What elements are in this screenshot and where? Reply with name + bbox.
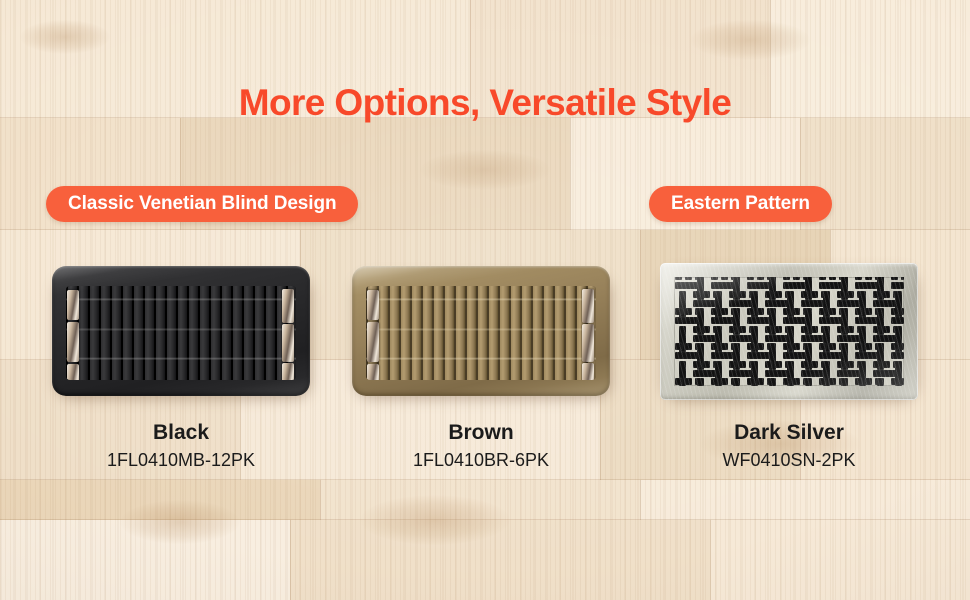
product-name: Black	[52, 420, 310, 446]
weave-bar	[901, 378, 904, 385]
weave-bar	[891, 317, 904, 324]
weave-bar	[769, 378, 776, 386]
damper-clip-left	[66, 286, 81, 380]
weave-bar	[783, 378, 790, 385]
weave-bar	[675, 378, 682, 385]
weave-bar	[693, 291, 700, 298]
weave-bar	[819, 378, 826, 385]
weave-bar	[901, 343, 904, 350]
damper-clip-right	[581, 286, 596, 380]
weave-bar	[811, 326, 818, 333]
weave-bar	[873, 361, 880, 368]
weave-bar	[693, 326, 700, 333]
weave-bar	[837, 326, 844, 333]
weave-bar	[739, 361, 746, 368]
weave-bar	[901, 308, 904, 315]
weave-bar	[891, 308, 898, 315]
weave-bar	[829, 308, 836, 315]
weave-bar	[793, 308, 800, 315]
weave-bar	[865, 343, 872, 350]
badge-eastern-pattern: Eastern Pattern	[649, 186, 832, 222]
weave-bar	[729, 361, 736, 368]
weave-bar	[855, 378, 862, 385]
weave-bar	[883, 291, 890, 298]
weave-bar	[855, 343, 862, 350]
weave-bar	[855, 308, 862, 315]
weave-bar	[675, 343, 682, 350]
weave-bar	[891, 352, 904, 359]
product-image-brown	[352, 266, 610, 396]
weave-bar	[891, 277, 898, 280]
weave-bar	[675, 277, 682, 280]
product-name: Brown	[352, 420, 610, 446]
weave-bar	[819, 308, 826, 315]
weave-bar	[865, 308, 872, 315]
weave-bar	[747, 378, 754, 385]
product-image-black	[52, 266, 310, 396]
weave-bar	[829, 343, 836, 350]
weave-bar	[891, 378, 898, 385]
weave-bar	[721, 277, 728, 280]
basketweave-pattern	[674, 277, 904, 386]
weave-bar	[765, 361, 772, 368]
weave-bar	[721, 308, 728, 315]
weave-bar	[901, 277, 904, 280]
product-name: Dark Silver	[660, 420, 918, 446]
weave-bar	[819, 343, 826, 350]
weave-bar	[711, 277, 718, 280]
weave-bar	[675, 308, 682, 315]
weave-bar	[757, 378, 764, 385]
weave-bar	[783, 308, 790, 315]
weave-bar	[829, 378, 836, 385]
product-sku: 1FL0410BR-6PK	[352, 448, 610, 472]
badge-label: Eastern Pattern	[671, 193, 810, 215]
weave-bar	[847, 291, 854, 298]
weave-bar	[811, 291, 818, 298]
weave-bar	[711, 308, 718, 315]
page-title: More Options, Versatile Style	[0, 82, 970, 123]
product-image-dark-silver	[660, 263, 918, 400]
weave-bar	[775, 291, 782, 298]
weave-bar	[801, 361, 808, 368]
weave-bar	[805, 378, 812, 386]
weave-bar	[877, 378, 884, 386]
weave-bar	[775, 326, 782, 333]
weave-bar	[685, 308, 692, 315]
weave-bar	[891, 343, 898, 350]
weave-bar	[685, 378, 692, 385]
weave-bar	[711, 378, 718, 385]
weave-bar	[685, 277, 692, 280]
weave-bar	[775, 361, 782, 368]
weave-bar	[721, 343, 728, 350]
weave-bar	[873, 326, 880, 333]
weave-bar	[697, 378, 704, 386]
weave-bar	[703, 361, 710, 368]
weave-bar	[883, 326, 890, 333]
weave-bar	[703, 326, 710, 333]
weave-bar	[841, 378, 848, 386]
weave-bar	[783, 343, 790, 350]
weave-bar	[721, 378, 728, 385]
weave-bar	[883, 361, 890, 368]
weave-bar	[837, 361, 844, 368]
weave-bar	[847, 361, 854, 368]
weave-bar	[891, 282, 904, 289]
weave-bar	[801, 326, 808, 333]
weave-bar	[757, 277, 764, 280]
weave-bar	[811, 361, 818, 368]
weave-bar	[739, 291, 746, 298]
weave-bar	[873, 291, 880, 298]
product-caption-black: Black 1FL0410MB-12PK	[52, 420, 310, 473]
weave-bar	[793, 277, 800, 280]
weave-bar	[711, 343, 718, 350]
weave-bar	[729, 326, 736, 333]
weave-bar	[865, 378, 872, 385]
weave-bar	[765, 326, 772, 333]
badge-label: Classic Venetian Blind Design	[68, 193, 336, 215]
weave-bar	[693, 361, 700, 368]
weave-bar	[837, 291, 844, 298]
weave-bar	[819, 277, 826, 280]
damper-clip-left	[366, 286, 381, 380]
weave-bar	[733, 378, 740, 386]
damper-clip-right	[281, 286, 296, 380]
weave-bar	[829, 277, 836, 280]
weave-bar	[783, 277, 790, 280]
product-caption-dark-silver: Dark Silver WF0410SN-2PK	[660, 420, 918, 473]
weave-bar	[793, 378, 800, 385]
weave-bar	[855, 277, 862, 280]
weave-bar	[757, 308, 764, 315]
weave-bar	[757, 343, 764, 350]
weave-bar	[801, 291, 808, 298]
weave-bar	[729, 291, 736, 298]
weave-bar	[703, 291, 710, 298]
marketing-banner: More Options, Versatile Style Classic Ve…	[0, 0, 970, 600]
weave-bar	[739, 326, 746, 333]
weave-bar	[865, 277, 872, 280]
weave-bar	[747, 277, 754, 280]
weave-bar	[793, 343, 800, 350]
weave-bar	[747, 343, 754, 350]
weave-bar	[765, 291, 772, 298]
product-sku: 1FL0410MB-12PK	[52, 448, 310, 472]
weave-bar	[685, 343, 692, 350]
weave-bar	[747, 308, 754, 315]
weave-bar	[847, 326, 854, 333]
product-caption-brown: Brown 1FL0410BR-6PK	[352, 420, 610, 473]
badge-classic-venetian-blind-design: Classic Venetian Blind Design	[46, 186, 358, 222]
product-sku: WF0410SN-2PK	[660, 448, 918, 472]
